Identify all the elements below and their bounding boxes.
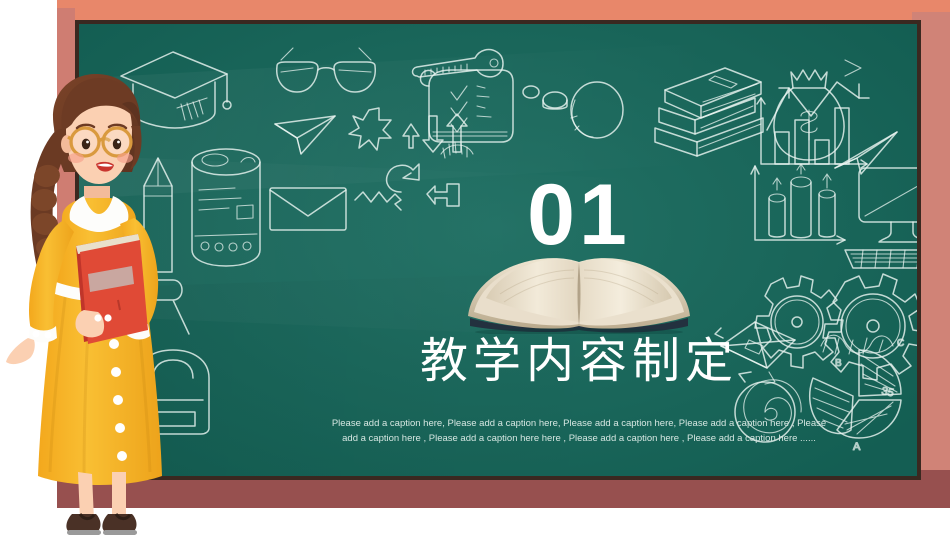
page-title: 教学内容制定	[309, 336, 849, 386]
caption-text: Please add a caption here, Please add a …	[325, 416, 833, 447]
chalkboard-surface: 35 A B C	[79, 24, 917, 476]
teacher-illustration	[0, 68, 190, 535]
slide-root: 35 A B C	[0, 0, 950, 535]
section-number: 01	[309, 172, 849, 258]
slide-content: 01	[309, 64, 849, 444]
